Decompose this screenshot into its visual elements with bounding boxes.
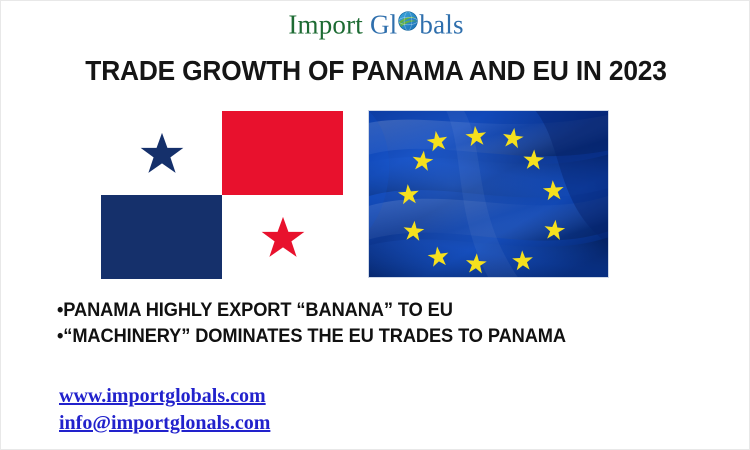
email-link[interactable]: info@importglonals.com [59, 410, 270, 437]
panama-flag-image [101, 111, 343, 279]
bullet-list: •PANAMA HIGHLY EXPORT “BANANA” TO EU •“M… [57, 298, 717, 350]
website-link[interactable]: www.importglobals.com [59, 383, 270, 410]
slide-canvas: Import Gl bals TRADE GROWTH OF PANAMA AN… [0, 0, 750, 450]
eu-flag-image [368, 110, 609, 278]
brand-logo: Import Gl bals [1, 10, 750, 38]
bullet-item-1: •PANAMA HIGHLY EXPORT “BANANA” TO EU [57, 298, 691, 324]
panama-flag-quadrant-red-top-right [222, 111, 343, 195]
logo-text-glo: Gl [370, 9, 397, 39]
globe-icon [397, 10, 419, 32]
logo-text-bals: bals [419, 9, 463, 39]
red-star-icon [260, 215, 306, 261]
blue-star-icon [139, 131, 185, 177]
page-title: TRADE GROWTH OF PANAMA AND EU IN 2023 [24, 55, 729, 87]
contact-block: www.importglobals.com info@importglonals… [59, 383, 270, 437]
logo-text-import: Import [288, 9, 363, 39]
bullet-item-2: •“MACHINERY” DOMINATES THE EU TRADES TO … [57, 324, 691, 350]
panama-flag-quadrant-blue-bottom-left [101, 195, 222, 279]
